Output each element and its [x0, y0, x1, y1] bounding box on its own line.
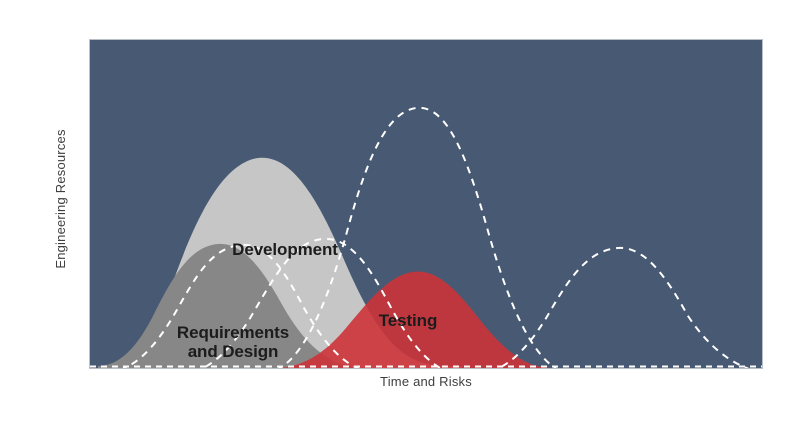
- series-label-testing: Testing: [348, 311, 468, 330]
- y-axis-title: Engineering Resources: [52, 34, 70, 364]
- series-label-development: Development: [190, 240, 380, 259]
- series-label-requirements: Requirementsand Design: [138, 323, 328, 361]
- chart-figure: Engineering Resources: [0, 0, 805, 429]
- series-label-requirements-line1: Requirements: [177, 323, 289, 342]
- plot-area: Development Requirementsand Design Testi…: [90, 40, 762, 368]
- series-label-requirements-line2: and Design: [188, 342, 279, 361]
- dashed-phase-curve-4: [490, 248, 758, 368]
- x-axis-title: Time and Risks: [90, 374, 762, 389]
